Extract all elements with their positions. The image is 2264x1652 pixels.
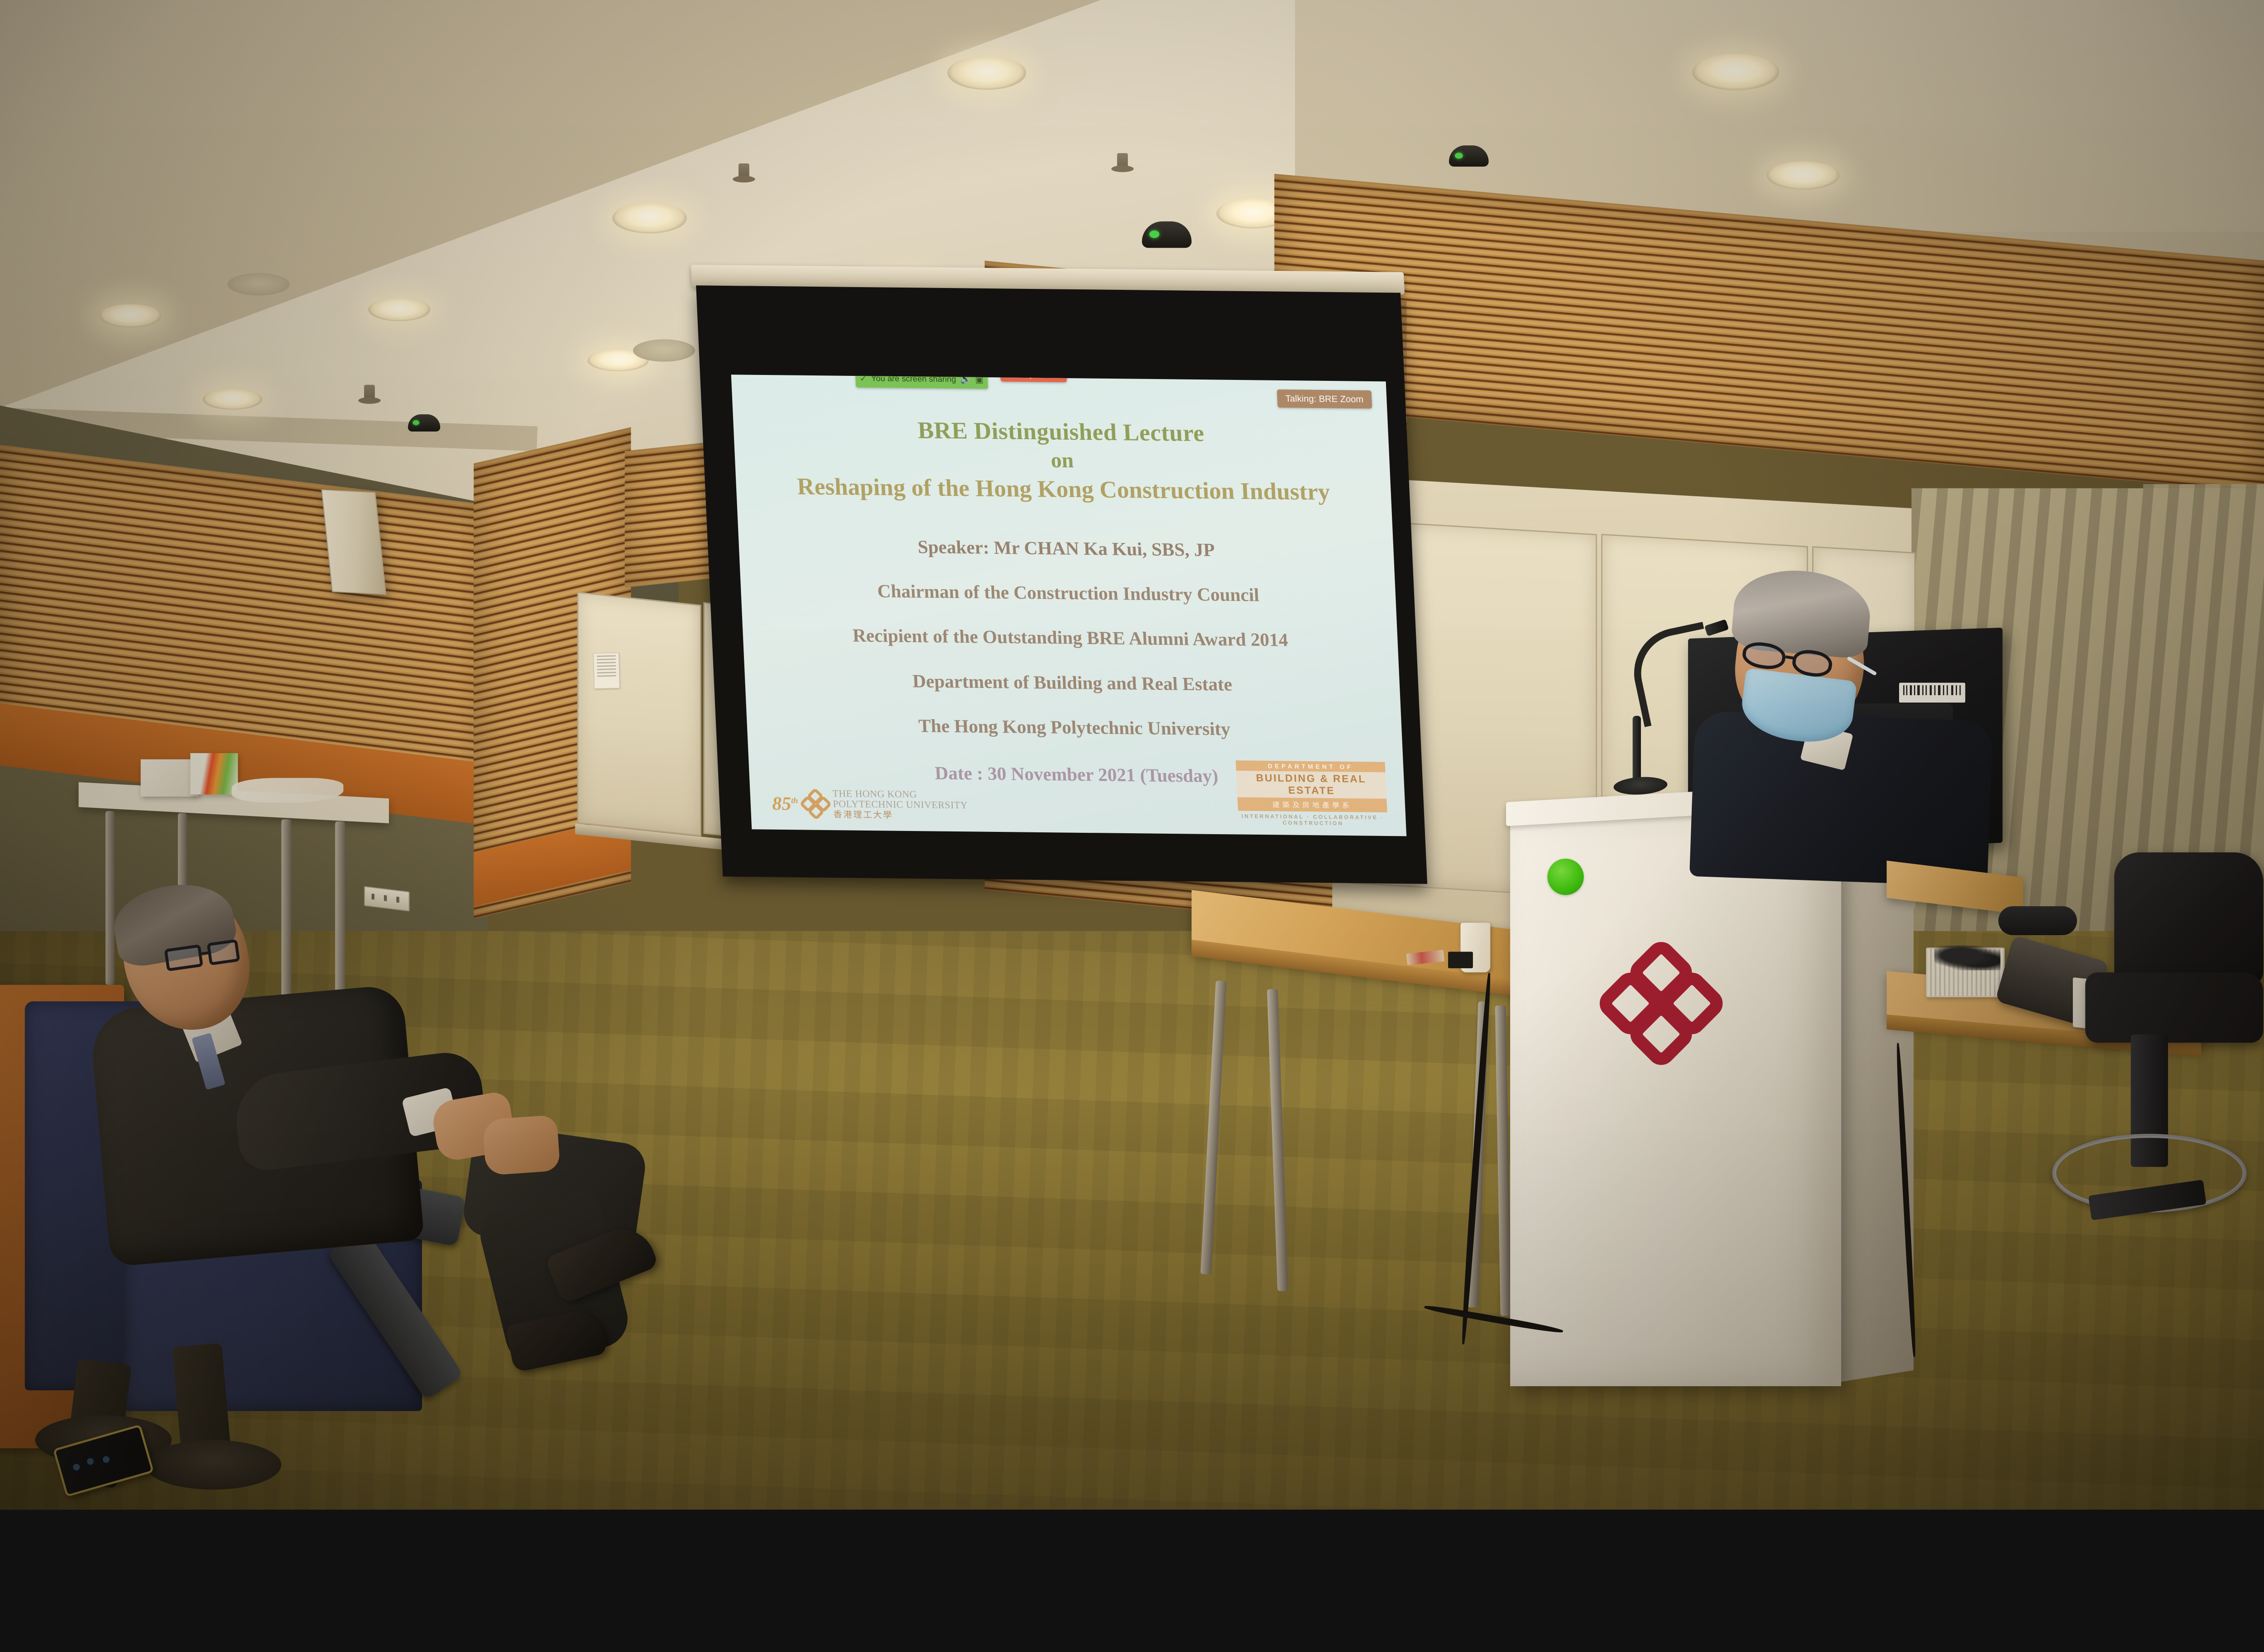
office-chair-armrest xyxy=(1998,906,2077,935)
polyu-logo: 85th THE HONG KONG POLYTECHNIC UNIVERSIT… xyxy=(772,788,969,821)
ceiling-downlight xyxy=(203,389,263,410)
office-chair-backrest[interactable] xyxy=(2114,852,2263,984)
sprinkler-head xyxy=(364,385,375,403)
microphone-base xyxy=(1614,776,1668,796)
colour-box-on-table xyxy=(190,753,238,794)
zoom-talking-badge: Talking: BRE Zoom xyxy=(1277,389,1372,408)
bre-logo-row-chinese: 建築及房地產學系 xyxy=(1238,797,1387,812)
bre-department-logo: DEPARTMENT OF BUILDING & REAL ESTATE 建築及… xyxy=(1236,760,1388,827)
check-icon: ✓ xyxy=(859,375,867,384)
polyu-wordmark: THE HONG KONG POLYTECHNIC UNIVERSITY 香港理… xyxy=(832,788,969,821)
coiled-cables xyxy=(1934,946,2000,970)
slide-content: BRE Distinguished Lecture on Reshaping o… xyxy=(733,414,1405,789)
polyu-name-chinese: 香港理工大學 xyxy=(833,810,969,821)
whiteboard-left-a xyxy=(577,592,701,837)
projected-slide: ✓ You are screen sharing 🔊 ▣ Stop Share … xyxy=(731,375,1406,836)
bre-logo-tagline: INTERNATIONAL · COLLABORATIVE · CONSTRUC… xyxy=(1238,811,1388,827)
auditorium-seat-base xyxy=(145,1440,282,1490)
office-chair-seat[interactable] xyxy=(2085,972,2263,1042)
polyu-knot-icon xyxy=(799,788,832,820)
lecture-theatre-photo: ✓ You are screen sharing 🔊 ▣ Stop Share … xyxy=(0,0,2264,1509)
sprinkler-head xyxy=(1117,153,1128,171)
dome-security-camera xyxy=(408,414,440,432)
ceiling-downlight xyxy=(1692,54,1779,90)
bre-logo-row-name: BUILDING & REAL ESTATE xyxy=(1236,771,1386,799)
polyu-anniversary-mark: 85th xyxy=(772,794,798,813)
tissues-on-table xyxy=(232,778,344,803)
green-sticker xyxy=(1547,859,1583,895)
wall-mounted-speaker xyxy=(321,489,386,595)
slide-line-award: Recipient of the Outstanding BRE Alumni … xyxy=(743,623,1398,653)
ceiling-downlight xyxy=(368,298,430,321)
posted-notice-sheet xyxy=(593,653,620,689)
microphone-stem xyxy=(1633,716,1641,782)
ceiling-downlight-off xyxy=(633,339,695,361)
seated-attendee xyxy=(62,885,641,1407)
slide-line-speaker: Speaker: Mr CHAN Ka Kui, SBS, JP xyxy=(739,533,1394,563)
slide-line-department: Department of Building and Real Estate xyxy=(744,668,1400,697)
podium-speaker xyxy=(1667,571,2006,885)
ceiling-downlight xyxy=(99,304,161,327)
ceiling-downlight-off xyxy=(228,273,290,295)
small-black-object xyxy=(1448,952,1473,969)
sprinkler-head xyxy=(739,163,749,182)
ceiling-downlight xyxy=(1767,161,1840,189)
bre-logo-row-department-of: DEPARTMENT OF xyxy=(1236,760,1385,772)
ceiling-downlight xyxy=(612,203,686,234)
slide-line-chairman: Chairman of the Construction Industry Co… xyxy=(740,578,1396,608)
slide-title-line2: Reshaping of the Hong Kong Construction … xyxy=(735,471,1391,508)
ceiling-downlight xyxy=(947,56,1026,90)
projection-screen-assembly: ✓ You are screen sharing 🔊 ▣ Stop Share … xyxy=(703,265,1438,934)
zoom-screen-sharing-bar[interactable]: ✓ You are screen sharing 🔊 ▣ xyxy=(855,375,988,389)
slide-line-university: The Hong Kong Polytechnic University xyxy=(747,712,1402,742)
attendee-hand xyxy=(482,1115,561,1176)
polyu-anniversary-number: 85 xyxy=(772,792,791,814)
polyu-anniversary-suffix: th xyxy=(791,796,798,805)
